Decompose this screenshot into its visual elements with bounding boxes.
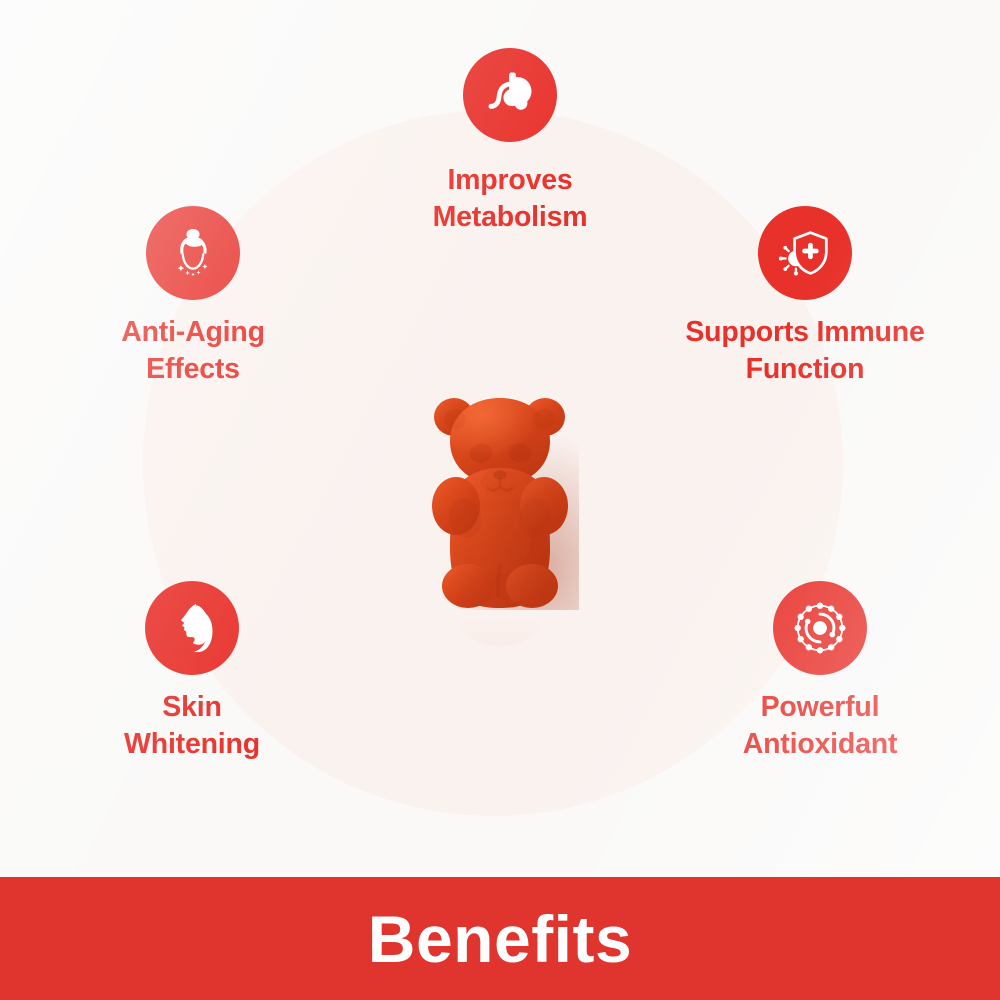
benefit-item-anti-aging-effects: Anti-Aging Effects <box>43 206 343 389</box>
woman-profile-icon <box>145 581 239 675</box>
face-sparkle-icon <box>146 206 240 300</box>
benefit-item-skin-whitening: Skin Whitening <box>42 581 342 764</box>
benefit-label: Skin Whitening <box>124 689 260 764</box>
benefits-infographic: Improves Metabolism Anti-Aging Effects <box>0 0 1000 1000</box>
benefit-label: Supports Immune Function <box>685 314 924 389</box>
product-gummy-bear <box>421 390 579 720</box>
banner-title: Benefits <box>368 906 632 972</box>
gummy-bear-reflection <box>425 606 575 726</box>
benefit-item-improves-metabolism: Improves Metabolism <box>360 48 660 237</box>
stomach-icon <box>463 48 557 142</box>
benefit-label: Improves Metabolism <box>433 162 588 237</box>
gummy-bear-figure <box>421 390 579 610</box>
benefit-item-powerful-antioxidant: Powerful Antioxidant <box>665 581 975 764</box>
benefit-label: Powerful Antioxidant <box>743 689 898 764</box>
benefit-label: Anti-Aging Effects <box>121 314 265 389</box>
benefit-item-supports-immune-function: Supports Immune Function <box>650 206 960 389</box>
shield-virus-icon <box>758 206 852 300</box>
benefits-banner: Benefits <box>0 877 1000 1000</box>
molecule-ring-icon <box>773 581 867 675</box>
